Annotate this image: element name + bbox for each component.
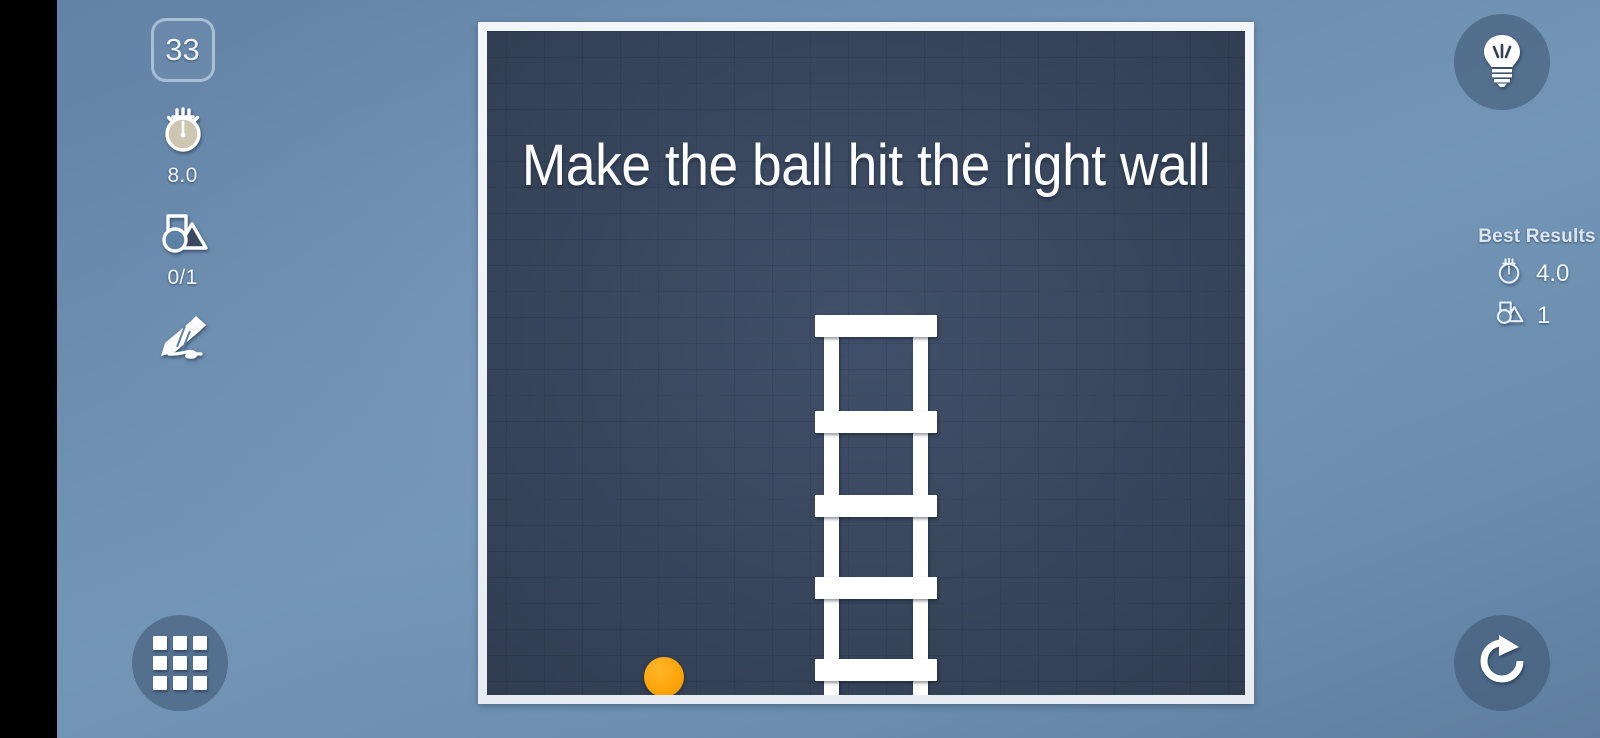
objective-text: Make the ball hit the right wall xyxy=(517,132,1214,199)
ladder-rung xyxy=(815,659,937,681)
best-results-time-row: 4.0 xyxy=(1437,255,1600,292)
stat-time: 8.0 xyxy=(157,104,209,188)
stat-objects: 0/1 xyxy=(156,210,210,290)
hud-left-panel: 33 8.0 xyxy=(120,18,245,365)
pencil-icon xyxy=(155,312,211,365)
stopwatch-icon xyxy=(1494,255,1524,292)
ladder-rung xyxy=(815,315,937,337)
stat-objects-value: 0/1 xyxy=(167,266,197,290)
shapes-icon xyxy=(1493,299,1525,332)
game-board[interactable]: Make the ball hit the right wall xyxy=(487,31,1245,695)
draw-tool-button[interactable] xyxy=(155,312,211,365)
best-results-title: Best Results xyxy=(1437,226,1600,248)
best-objects-value: 1 xyxy=(1537,302,1581,330)
best-results-panel: Best Results 4.0 xyxy=(1437,226,1600,332)
game-screen: 33 8.0 xyxy=(0,0,1600,738)
restart-button[interactable] xyxy=(1454,615,1550,711)
game-stage: 33 8.0 xyxy=(57,0,1600,738)
ladder-obstacle[interactable] xyxy=(824,315,928,695)
ladder-rung xyxy=(815,411,937,433)
shapes-icon xyxy=(156,210,210,263)
stat-time-value: 8.0 xyxy=(167,164,197,188)
best-time-value: 4.0 xyxy=(1536,260,1580,288)
level-number-label: 33 xyxy=(165,32,199,68)
stopwatch-icon xyxy=(157,104,209,161)
best-results-objects-row: 1 xyxy=(1437,299,1600,332)
lightbulb-icon xyxy=(1477,32,1527,93)
orange-ball[interactable] xyxy=(644,657,684,695)
grid-icon xyxy=(153,636,207,690)
level-badge[interactable]: 33 xyxy=(151,18,215,82)
levels-button[interactable] xyxy=(132,615,228,711)
restart-icon xyxy=(1475,634,1529,693)
hint-button[interactable] xyxy=(1454,14,1550,110)
letterbox-left-bar xyxy=(0,0,57,738)
ladder-rung xyxy=(815,577,937,599)
ladder-rung xyxy=(815,495,937,517)
game-board-frame: Make the ball hit the right wall xyxy=(478,22,1254,704)
